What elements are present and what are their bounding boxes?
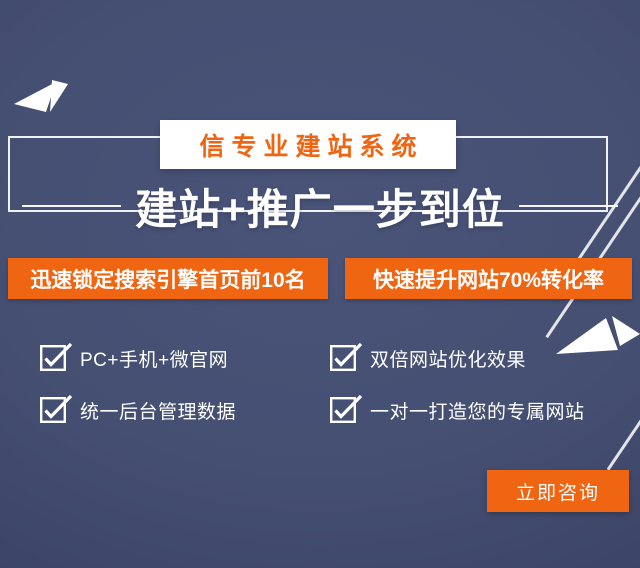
headline-rule-right — [519, 205, 618, 207]
headline-row: 建站+推广一步到位 — [0, 178, 640, 234]
feature-label: PC+手机+微官网 — [80, 345, 228, 372]
feature-label: 一对一打造您的专属网站 — [370, 397, 585, 424]
consult-now-button[interactable]: 立即咨询 — [487, 470, 629, 512]
checkbox-checked-icon — [40, 397, 66, 423]
paper-plane-icon — [12, 62, 74, 112]
feature-list: PC+手机+微官网 双倍网站优化效果 统一后台管理数据 — [40, 332, 640, 436]
checkbox-checked-icon — [330, 397, 356, 423]
page-title: 建站+推广一步到位 — [135, 176, 505, 237]
checkbox-checked-icon — [40, 345, 66, 371]
list-item: PC+手机+微官网 — [40, 345, 330, 372]
list-item: 统一后台管理数据 — [40, 397, 330, 424]
status-badge: 迅速锁定搜索引擎首页前10名 — [8, 258, 328, 299]
promo-banner: 信专业建站系统 建站+推广一步到位 迅速锁定搜索引擎首页前10名 快速提升网站7… — [0, 0, 640, 568]
status-badge: 快速提升网站70%转化率 — [345, 258, 632, 299]
feature-label: 双倍网站优化效果 — [370, 345, 526, 372]
badge-row: 迅速锁定搜索引擎首页前10名 快速提升网站70%转化率 — [8, 258, 632, 299]
checkbox-checked-icon — [330, 345, 356, 371]
brand-tag-label: 信专业建站系统 — [192, 127, 423, 163]
headline-rule-left — [22, 205, 121, 207]
list-item: 一对一打造您的专属网站 — [330, 397, 640, 424]
feature-label: 统一后台管理数据 — [80, 397, 236, 424]
brand-tag-box: 信专业建站系统 — [160, 120, 456, 169]
list-item: 双倍网站优化效果 — [330, 345, 640, 372]
